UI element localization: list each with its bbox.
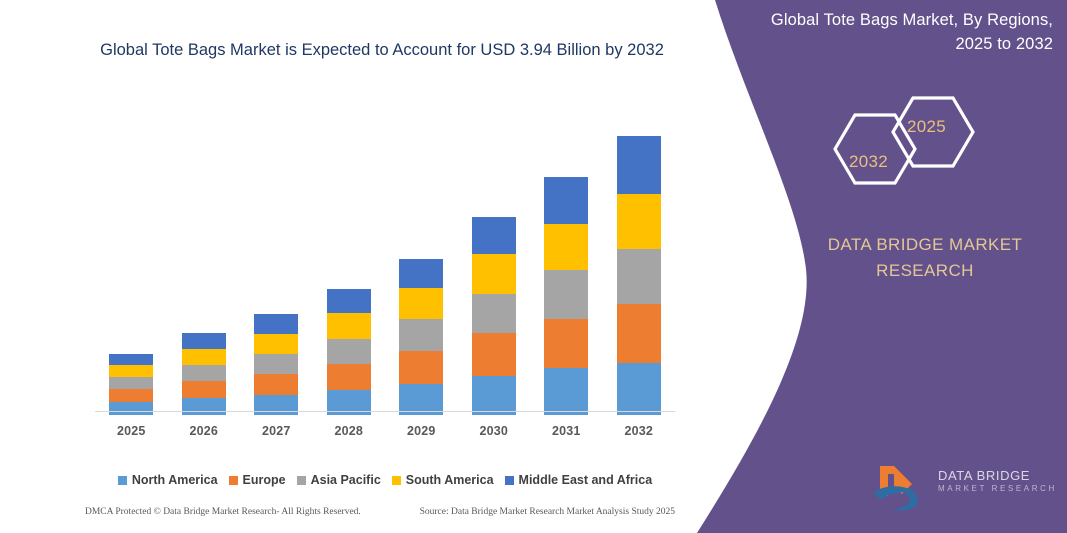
bar-2025	[109, 354, 153, 415]
bar-segment-asia-pacific	[327, 339, 371, 364]
footer-copyright: DMCA Protected © Data Bridge Market Rese…	[85, 507, 361, 517]
bar-chart-plot	[95, 110, 675, 415]
company-logo-text: DATA BRIDGE MARKET RESEARCH	[938, 468, 1057, 495]
bar-segment-south-america	[617, 194, 661, 249]
brand-name-line1: DATA BRIDGE MARKET	[790, 232, 1060, 258]
x-axis-label-2025: 2025	[96, 424, 166, 438]
bar-segment-south-america	[472, 254, 516, 294]
bar-segment-north-america	[617, 363, 661, 415]
footer: DMCA Protected © Data Bridge Market Rese…	[85, 507, 675, 523]
x-axis-label-2026: 2026	[169, 424, 239, 438]
hexagon-2025-label: 2025	[907, 117, 946, 137]
bar-segment-asia-pacific	[254, 354, 298, 374]
x-axis-label-2028: 2028	[314, 424, 384, 438]
bar-segment-south-america	[544, 224, 588, 270]
legend-label: Asia Pacific	[311, 473, 381, 487]
bar-segment-europe	[254, 374, 298, 395]
legend-label: Europe	[243, 473, 286, 487]
x-axis-labels: 20252026202720282029203020312032	[95, 424, 675, 444]
bar-2029	[399, 259, 443, 415]
bar-segment-south-america	[182, 349, 226, 365]
legend-swatch-icon	[297, 476, 306, 485]
bar-segment-europe	[399, 351, 443, 384]
bar-segment-north-america	[182, 398, 226, 415]
legend-swatch-icon	[229, 476, 238, 485]
legend-item-asia-pacific[interactable]: Asia Pacific	[297, 473, 381, 487]
bar-segment-asia-pacific	[544, 270, 588, 319]
bar-segment-europe	[617, 304, 661, 362]
bar-segment-asia-pacific	[617, 249, 661, 304]
x-axis-label-2027: 2027	[241, 424, 311, 438]
legend-item-europe[interactable]: Europe	[229, 473, 286, 487]
bar-segment-north-america	[472, 376, 516, 415]
bar-segment-europe	[327, 364, 371, 390]
bar-segment-asia-pacific	[182, 365, 226, 381]
logo-text-line1: DATA BRIDGE	[938, 468, 1057, 483]
bar-segment-south-america	[327, 313, 371, 338]
x-axis-line	[95, 411, 675, 412]
bar-segment-middle-east-and-africa	[399, 259, 443, 288]
hexagon-2032-label: 2032	[849, 152, 888, 172]
footer-source: Source: Data Bridge Market Research Mark…	[420, 507, 675, 517]
chart-legend: North AmericaEuropeAsia PacificSouth Ame…	[95, 471, 675, 489]
bar-segment-middle-east-and-africa	[617, 136, 661, 193]
legend-item-south-america[interactable]: South America	[392, 473, 494, 487]
bar-segment-south-america	[399, 288, 443, 319]
legend-label: North America	[132, 473, 218, 487]
legend-label: Middle East and Africa	[519, 473, 653, 487]
bar-segment-middle-east-and-africa	[472, 217, 516, 254]
bar-2030	[472, 217, 516, 415]
bar-segment-middle-east-and-africa	[327, 289, 371, 313]
brand-name-line2: RESEARCH	[790, 258, 1060, 284]
bar-segment-middle-east-and-africa	[254, 314, 298, 333]
bar-segment-asia-pacific	[399, 319, 443, 350]
bar-segment-europe	[544, 319, 588, 367]
bar-2028	[327, 289, 371, 415]
bar-segment-middle-east-and-africa	[544, 177, 588, 223]
legend-item-north-america[interactable]: North America	[118, 473, 218, 487]
bar-segment-asia-pacific	[472, 294, 516, 333]
chart-title: Global Tote Bags Market is Expected to A…	[92, 36, 672, 64]
bar-2031	[544, 177, 588, 415]
bar-segment-middle-east-and-africa	[109, 354, 153, 365]
bar-2026	[182, 333, 226, 416]
legend-swatch-icon	[505, 476, 514, 485]
brand-name: DATA BRIDGE MARKET RESEARCH	[790, 232, 1060, 284]
bar-segment-middle-east-and-africa	[182, 333, 226, 349]
logo-text-line2: MARKET RESEARCH	[938, 483, 1057, 495]
bar-segment-europe	[109, 389, 153, 402]
legend-swatch-icon	[392, 476, 401, 485]
bar-segment-europe	[472, 333, 516, 375]
bar-segment-north-america	[544, 368, 588, 415]
infographic-canvas: Global Tote Bags Market, By Regions, 202…	[0, 0, 1067, 533]
bar-segment-south-america	[109, 365, 153, 377]
x-axis-label-2029: 2029	[386, 424, 456, 438]
x-axis-label-2030: 2030	[459, 424, 529, 438]
x-axis-label-2032: 2032	[604, 424, 674, 438]
legend-swatch-icon	[118, 476, 127, 485]
bar-segment-south-america	[254, 334, 298, 354]
bar-segment-north-america	[109, 402, 153, 415]
bar-segment-europe	[182, 381, 226, 398]
bar-segment-asia-pacific	[109, 377, 153, 389]
bar-2032	[617, 136, 661, 415]
panel-title: Global Tote Bags Market, By Regions, 202…	[735, 8, 1053, 56]
legend-item-middle-east-and-africa[interactable]: Middle East and Africa	[505, 473, 653, 487]
hexagon-badges: 2032 2025	[815, 92, 985, 207]
legend-label: South America	[406, 473, 494, 487]
bar-2027	[254, 314, 298, 415]
x-axis-label-2031: 2031	[531, 424, 601, 438]
